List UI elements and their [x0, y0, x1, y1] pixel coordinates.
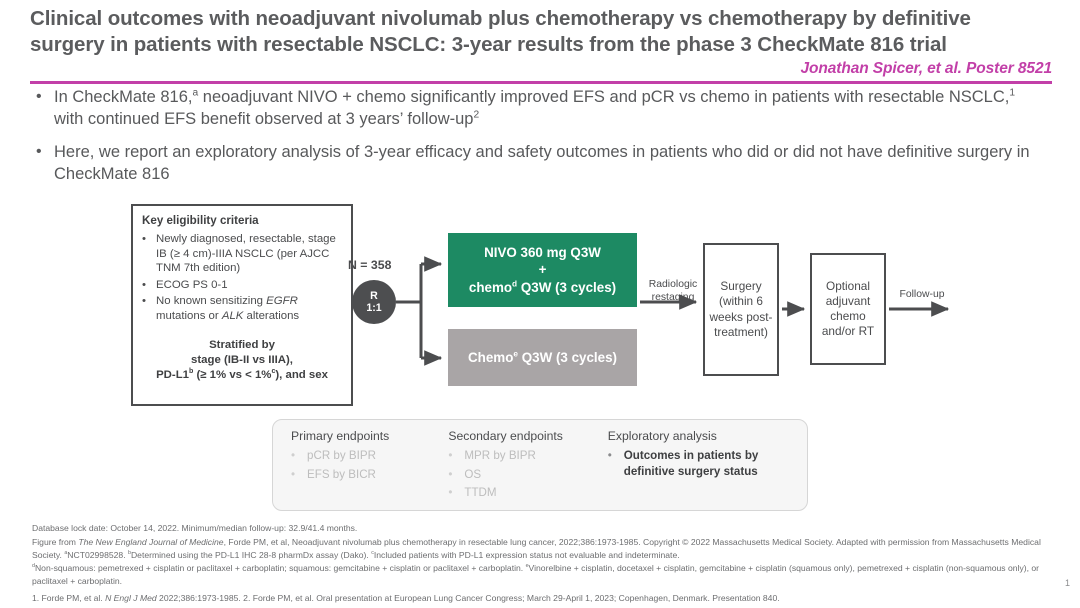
stratified-stage: stage (IB-II vs IIIA), [142, 353, 342, 368]
primary-endpoints-column: Primary endpoints •pCR by BIPR •EFS by B… [291, 429, 448, 502]
surgery-box-text: Surgery (within 6 weeks post-treatment) [705, 279, 777, 339]
radiologic-line-1: Radiologic [643, 278, 703, 291]
footnote-b-text: Determined using the PD-L1 IHC 28-8 phar… [131, 550, 371, 560]
bullet-marker: • [608, 448, 624, 479]
bullet-marker: • [448, 485, 464, 501]
arm-line-1: NIVO 360 mg Q3W [469, 244, 616, 261]
exploratory-analysis-header: Exploratory analysis [608, 429, 793, 443]
randomization-node: R 1:1 [352, 280, 396, 324]
adjuvant-box-text: Optional adjuvant chemo and/or RT [812, 279, 884, 339]
reference-journal: N Engl J Med [105, 593, 157, 603]
randomization-letter: R [370, 290, 378, 303]
stratified-by-header: Stratified by [142, 338, 342, 353]
bullet-marker: • [448, 448, 464, 464]
randomization-ratio: 1:1 [366, 302, 381, 315]
reference-1-post: 2022;386:1973-1985. 2. Forde PM, et al. … [157, 593, 780, 603]
arm-schedule: Q3W (3 cycles) [517, 280, 616, 295]
arm-label-stack: NIVO 360 mg Q3W + chemod Q3W (3 cycles) [469, 244, 616, 296]
list-item: •OS [448, 467, 607, 483]
eligibility-list: •Newly diagnosed, resectable, stage IB (… [142, 232, 342, 324]
pdl1-range: (≥ 1% vs < 1% [193, 369, 271, 381]
endpoint-text: OS [464, 467, 607, 483]
treatment-arm-chemo: Chemoe Q3W (3 cycles) [448, 329, 637, 386]
pdl1-tail: ), and sex [275, 369, 328, 381]
treatment-arm-nivo-chemo: NIVO 360 mg Q3W + chemod Q3W (3 cycles) [448, 233, 637, 307]
bullet-marker: • [142, 294, 156, 323]
endpoint-text: pCR by BIPR [307, 448, 448, 464]
exploratory-analysis-column: Exploratory analysis •Outcomes in patien… [608, 429, 793, 502]
list-item: •EFS by BICR [291, 467, 448, 483]
list-item: •ECOG PS 0-1 [142, 278, 342, 293]
bullet-marker: • [142, 278, 156, 293]
list-item: •Outcomes in patients by definitive surg… [608, 448, 793, 479]
footnote-a-text: NCT02998528. [67, 550, 128, 560]
primary-endpoints-list: •pCR by BIPR •EFS by BICR [291, 448, 448, 482]
eligibility-title: Key eligibility criteria [142, 214, 342, 227]
secondary-endpoints-header: Secondary endpoints [448, 429, 607, 443]
arm-schedule: Q3W (3 cycles) [518, 350, 617, 365]
footnotes-block: Database lock date: October 14, 2022. Mi… [32, 522, 1044, 605]
eligibility-item-text: No known sensitizing EGFR mutations or A… [156, 294, 342, 323]
study-design-diagram: Key eligibility criteria •Newly diagnose… [0, 0, 1080, 608]
pdl1-label: PD-L1 [156, 369, 189, 381]
endpoints-panel: Primary endpoints •pCR by BIPR •EFS by B… [272, 419, 808, 511]
bullet-marker: • [291, 467, 307, 483]
list-item: •No known sensitizing EGFR mutations or … [142, 294, 342, 323]
stratified-pdl1: PD-L1b (≥ 1% vs < 1%c), and sex [142, 368, 342, 383]
primary-endpoints-header: Primary endpoints [291, 429, 448, 443]
slide-root: Clinical outcomes with neoadjuvant nivol… [0, 0, 1080, 608]
references-line: 1. Forde PM, et al. N Engl J Med 2022;38… [32, 592, 1044, 605]
exploratory-analysis-list: •Outcomes in patients by definitive surg… [608, 448, 793, 479]
reference-1-pre: 1. Forde PM, et al. [32, 593, 105, 603]
endpoint-text: MPR by BIPR [464, 448, 607, 464]
figure-credit-line: Figure from The New England Journal of M… [32, 536, 1044, 562]
stratification-text: Stratified by stage (IB-II vs IIIA), PD-… [142, 338, 342, 383]
bullet-marker: • [291, 448, 307, 464]
list-item: •Newly diagnosed, resectable, stage IB (… [142, 232, 342, 276]
bullet-marker: • [142, 232, 156, 276]
eligibility-item-text: Newly diagnosed, resectable, stage IB (≥… [156, 232, 342, 276]
surgery-box: Surgery (within 6 weeks post-treatment) [703, 243, 779, 376]
database-lock-line: Database lock date: October 14, 2022. Mi… [32, 522, 1044, 535]
footnote-de-line: dNon-squamous: pemetrexed + cisplatin or… [32, 562, 1044, 588]
secondary-endpoints-column: Secondary endpoints •MPR by BIPR •OS •TT… [448, 429, 607, 502]
radiologic-restaging-label: Radiologic restaging [643, 278, 703, 304]
arm-line-3: chemod Q3W (3 cycles) [469, 279, 616, 296]
arm-chemo-word: chemo [469, 280, 512, 295]
journal-name: The New England Journal of Medicine [78, 537, 223, 547]
endpoint-text: TTDM [464, 485, 607, 501]
optional-adjuvant-box: Optional adjuvant chemo and/or RT [810, 253, 886, 365]
arm-label-stack: Chemoe Q3W (3 cycles) [468, 350, 617, 365]
key-eligibility-criteria-box: Key eligibility criteria •Newly diagnose… [131, 204, 353, 406]
eligibility-item-text: ECOG PS 0-1 [156, 278, 342, 293]
page-number: 1 [1065, 578, 1070, 588]
follow-up-label: Follow-up [892, 288, 952, 301]
footnote-d-text: Non-squamous: pemetrexed + cisplatin or … [35, 563, 526, 573]
endpoint-text: EFS by BICR [307, 467, 448, 483]
list-item: •pCR by BIPR [291, 448, 448, 464]
footnote-c-text: Included patients with PD-L1 expression … [374, 550, 680, 560]
list-item: •TTDM [448, 485, 607, 501]
bullet-marker: • [448, 467, 464, 483]
endpoint-text: Outcomes in patients by definitive surge… [624, 448, 793, 479]
arm-chemo-word: Chemo [468, 350, 513, 365]
secondary-endpoints-list: •MPR by BIPR •OS •TTDM [448, 448, 607, 501]
enrollment-count-label: N = 358 [348, 258, 391, 272]
list-item: •MPR by BIPR [448, 448, 607, 464]
radiologic-line-2: restaging [643, 291, 703, 304]
figure-credit-pre: Figure from [32, 537, 78, 547]
arm-line-2: + [469, 261, 616, 278]
